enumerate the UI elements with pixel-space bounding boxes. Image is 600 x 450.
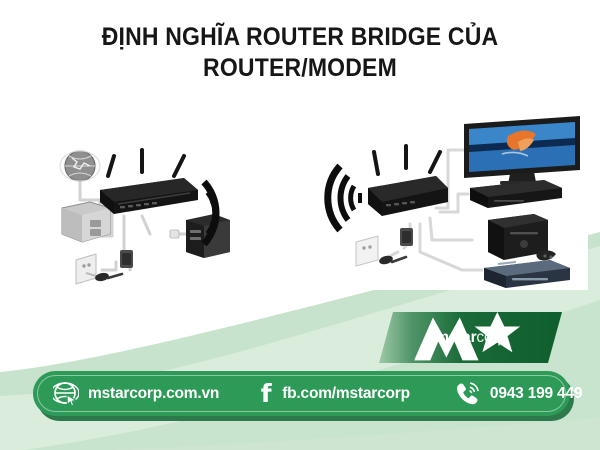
contact-website[interactable]: mstarcorp.com.vn — [53, 381, 219, 407]
poster-canvas: ĐỊNH NGHĨA ROUTER BRIDGE CỦA ROUTER/MODE… — [0, 0, 600, 450]
phone-ringing-icon — [454, 381, 481, 407]
contact-facebook-label: fb.com/mstarcorp — [282, 385, 410, 403]
contact-facebook[interactable]: f fb.com/mstarcorp — [259, 381, 410, 406]
game-console — [488, 214, 556, 260]
page-title: ĐỊNH NGHĨA ROUTER BRIDGE CỦA ROUTER/MODE… — [0, 22, 600, 84]
footer-contact-bar: mstarcorp.com.vn f fb.com/mstarcorp 0943… — [33, 371, 570, 416]
page-title-line-1: ĐỊNH NGHĨA ROUTER BRIDGE CỦA — [24, 22, 576, 53]
contact-website-label: mstarcorp.com.vn — [88, 385, 219, 403]
modem-device — [62, 202, 110, 242]
pill-body: mstarcorp.com.vn f fb.com/mstarcorp 0943… — [33, 371, 570, 416]
power-adapter — [400, 228, 413, 246]
facebook-f-icon: f — [259, 381, 273, 406]
router-modem-bridge-source-diagram — [38, 138, 286, 290]
page-title-line-2: ROUTER/MODEM — [24, 53, 576, 84]
logo-word-light: corp — [476, 329, 505, 346]
mstarcorp-logo-badge: mstarcorp — [379, 312, 562, 363]
globe-cursor-icon — [53, 381, 79, 407]
mstar-m-star-logo-mark — [379, 312, 562, 363]
power-adapter — [120, 250, 133, 268]
internet-globe-icon — [60, 151, 100, 181]
contact-phone[interactable]: 0943 199 449 — [454, 381, 582, 407]
contact-phone-label: 0943 199 449 — [490, 385, 582, 403]
router-bridge-client-diagram — [312, 112, 588, 290]
